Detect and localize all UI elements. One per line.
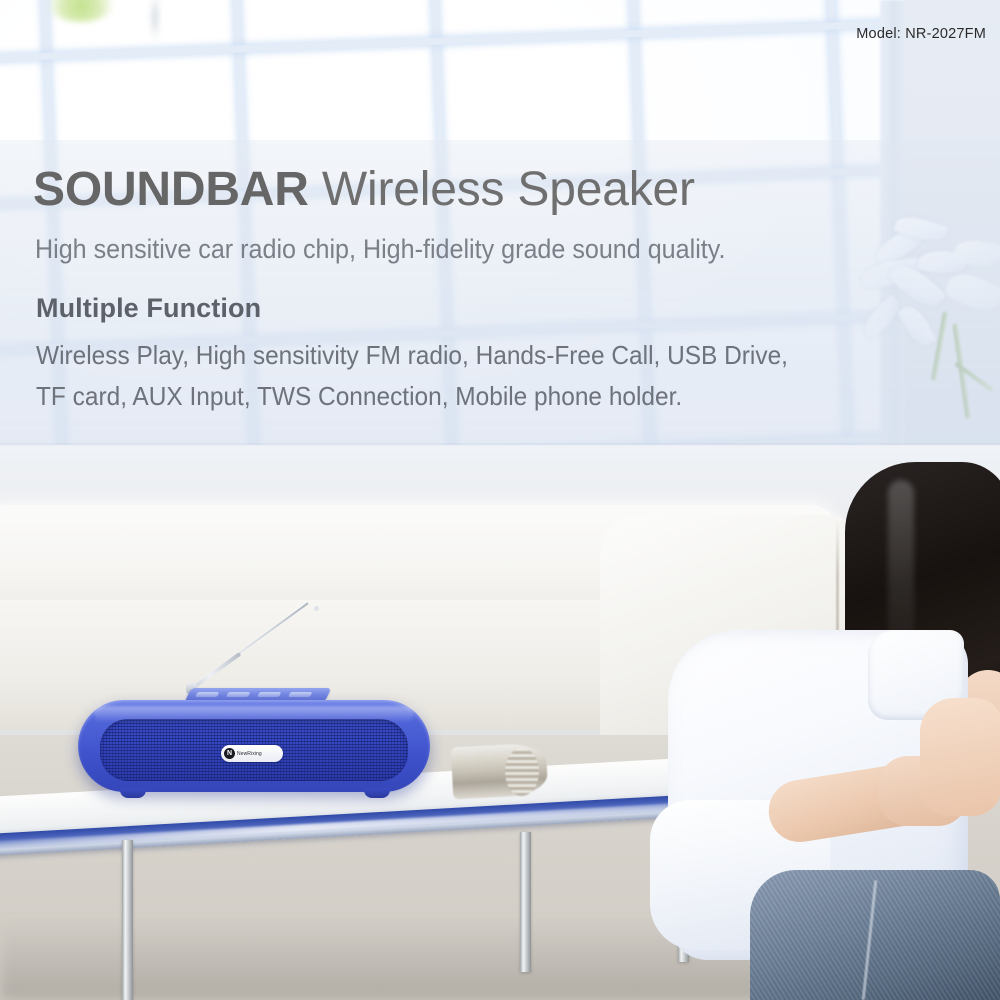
table-object-rings: [505, 748, 539, 796]
model-label: Model: NR-2027FM: [856, 26, 986, 42]
feature-line: TF card, AUX Input, TWS Connection, Mobi…: [36, 381, 682, 412]
headline-rest: Wireless Speaker: [309, 163, 695, 216]
product-banner: N NewRixing Model: NR-2027FM SOUNDBAR Wi…: [0, 0, 1000, 1000]
plant-stem: [150, 0, 160, 40]
headline-brand-word: SOUNDBAR: [33, 163, 309, 216]
speaker-foot: [120, 788, 146, 798]
soundbar-speaker: N NewRixing: [78, 700, 430, 796]
control-button[interactable]: [288, 692, 312, 697]
speaker-foot: [364, 788, 390, 798]
brand-logo-text: NewRixing: [237, 751, 262, 757]
control-button[interactable]: [226, 692, 250, 697]
subtitle: High sensitive car radio chip, High-fide…: [35, 234, 725, 265]
brand-mark-icon: N: [224, 748, 235, 759]
speaker-body: N NewRixing: [78, 700, 430, 792]
table-leg: [520, 832, 531, 972]
control-button[interactable]: [195, 692, 219, 697]
antenna-tip: [314, 606, 319, 611]
speaker-highlight: [94, 706, 414, 722]
feature-line: Wireless Play, High sensitivity FM radio…: [36, 340, 788, 371]
antenna: [190, 604, 318, 696]
text-band-edge: [0, 443, 1000, 446]
hand-upper: [920, 698, 1000, 816]
seated-woman: [640, 470, 1000, 1000]
brand-logo-badge: N NewRixing: [221, 745, 283, 762]
section-title: Multiple Function: [36, 293, 261, 324]
table-leg: [122, 840, 133, 1000]
control-button[interactable]: [257, 692, 281, 697]
page-title: SOUNDBAR Wireless Speaker: [33, 162, 695, 217]
